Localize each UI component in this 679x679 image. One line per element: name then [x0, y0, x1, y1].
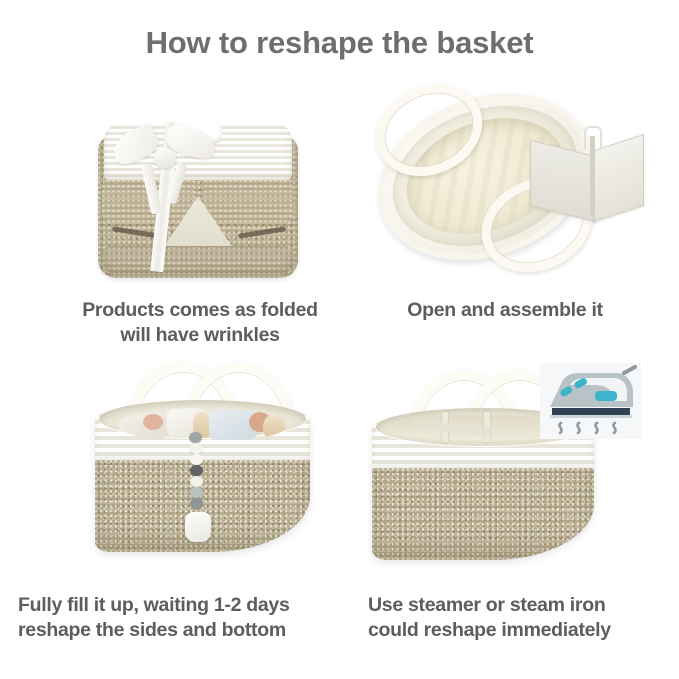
step-1-caption: Products comes as folded will have wrink… [30, 298, 370, 348]
open-basket-top-view-image [368, 88, 648, 278]
step-2-caption: Open and assemble it [350, 298, 660, 323]
step-3-caption: Fully fill it up, waiting 1-2 days resha… [18, 593, 368, 643]
steam-iron-glyph [540, 363, 641, 439]
content-item-rattle [263, 414, 285, 440]
content-item-ring [143, 414, 163, 430]
charm-bead [190, 454, 203, 465]
page-title: How to reshape the basket [0, 25, 679, 61]
folding-divider-panel [530, 126, 650, 236]
ribbon-bow-knot [154, 148, 176, 168]
steam-iron-icon [540, 363, 641, 439]
basket-jute-rope-band [372, 468, 594, 560]
folded-basket-image [98, 118, 298, 278]
charm-bead [190, 487, 203, 498]
charm-animal-pendant [185, 512, 211, 542]
folded-roll-bottom-edge [102, 246, 294, 276]
charm-bead [190, 476, 203, 487]
infographic-page: How to reshape the basket Products comes… [0, 0, 679, 679]
divider-left-wing [530, 140, 596, 222]
charm-bead [190, 498, 203, 509]
charm-bead [190, 465, 203, 476]
charm-bead [190, 443, 203, 454]
step-4-caption: Use steamer or steam iron could reshape … [368, 593, 678, 643]
divider-tab [584, 126, 602, 150]
filled-rope-basket-image [95, 360, 310, 560]
charm-bead [189, 432, 202, 443]
beaded-charm [185, 432, 219, 552]
interior-divider-vertical-2 [484, 412, 490, 442]
